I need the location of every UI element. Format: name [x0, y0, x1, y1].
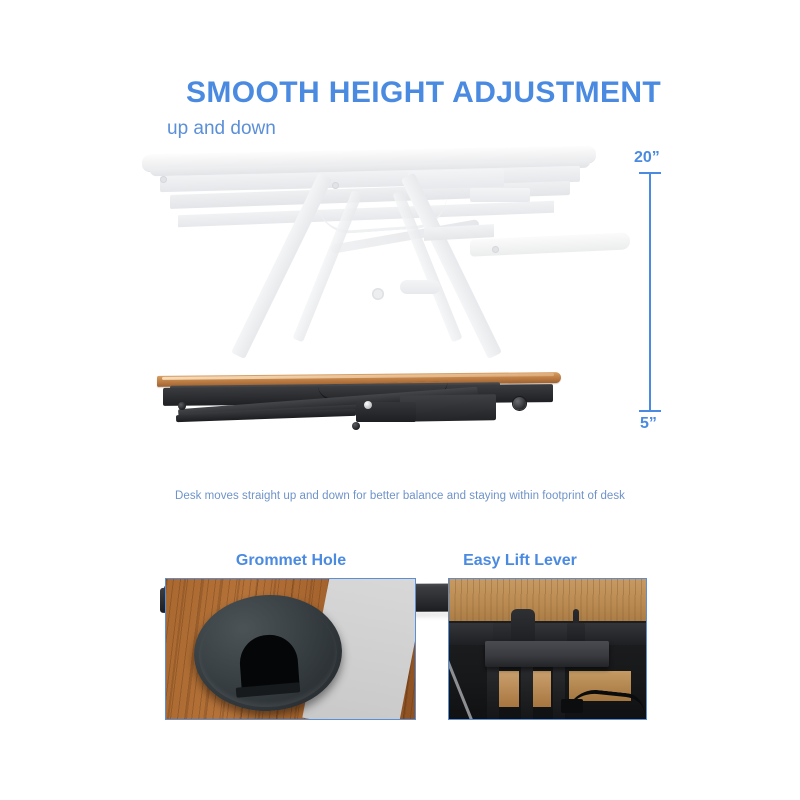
dimension-line	[649, 172, 651, 412]
lift-lever-handle	[485, 641, 609, 667]
easy-lift-lever-photo	[448, 578, 647, 720]
product-infographic: SMOOTH HEIGHT ADJUSTMENT up and down	[0, 0, 800, 800]
screw-icon	[352, 422, 360, 430]
dimension-tick-bottom	[639, 410, 661, 412]
max-height-label: 20”	[634, 149, 660, 167]
screw-icon	[364, 401, 372, 409]
desktop-underside-wood	[449, 579, 646, 625]
panel-label: Grommet Hole	[165, 552, 417, 570]
height-dimension-indicator: 20” 5”	[620, 140, 700, 440]
adjustment-knob	[513, 397, 526, 410]
cord-connector	[561, 699, 583, 713]
frame-leg	[487, 667, 499, 719]
frame-leg	[521, 667, 533, 719]
screw-icon	[178, 402, 186, 410]
feature-panels: Grommet Hole Easy Lift Lever	[0, 552, 800, 742]
page-title: SMOOTH HEIGHT ADJUSTMENT	[186, 76, 661, 110]
wood-gap-view	[497, 671, 519, 707]
panel-label: Easy Lift Lever	[420, 552, 620, 570]
min-height-label: 5”	[640, 415, 657, 433]
lever-stem	[511, 609, 535, 645]
illustration-caption: Desk moves straight up and down for bett…	[0, 490, 800, 502]
grommet-hole-photo	[165, 578, 416, 720]
page-subtitle: up and down	[167, 118, 276, 140]
